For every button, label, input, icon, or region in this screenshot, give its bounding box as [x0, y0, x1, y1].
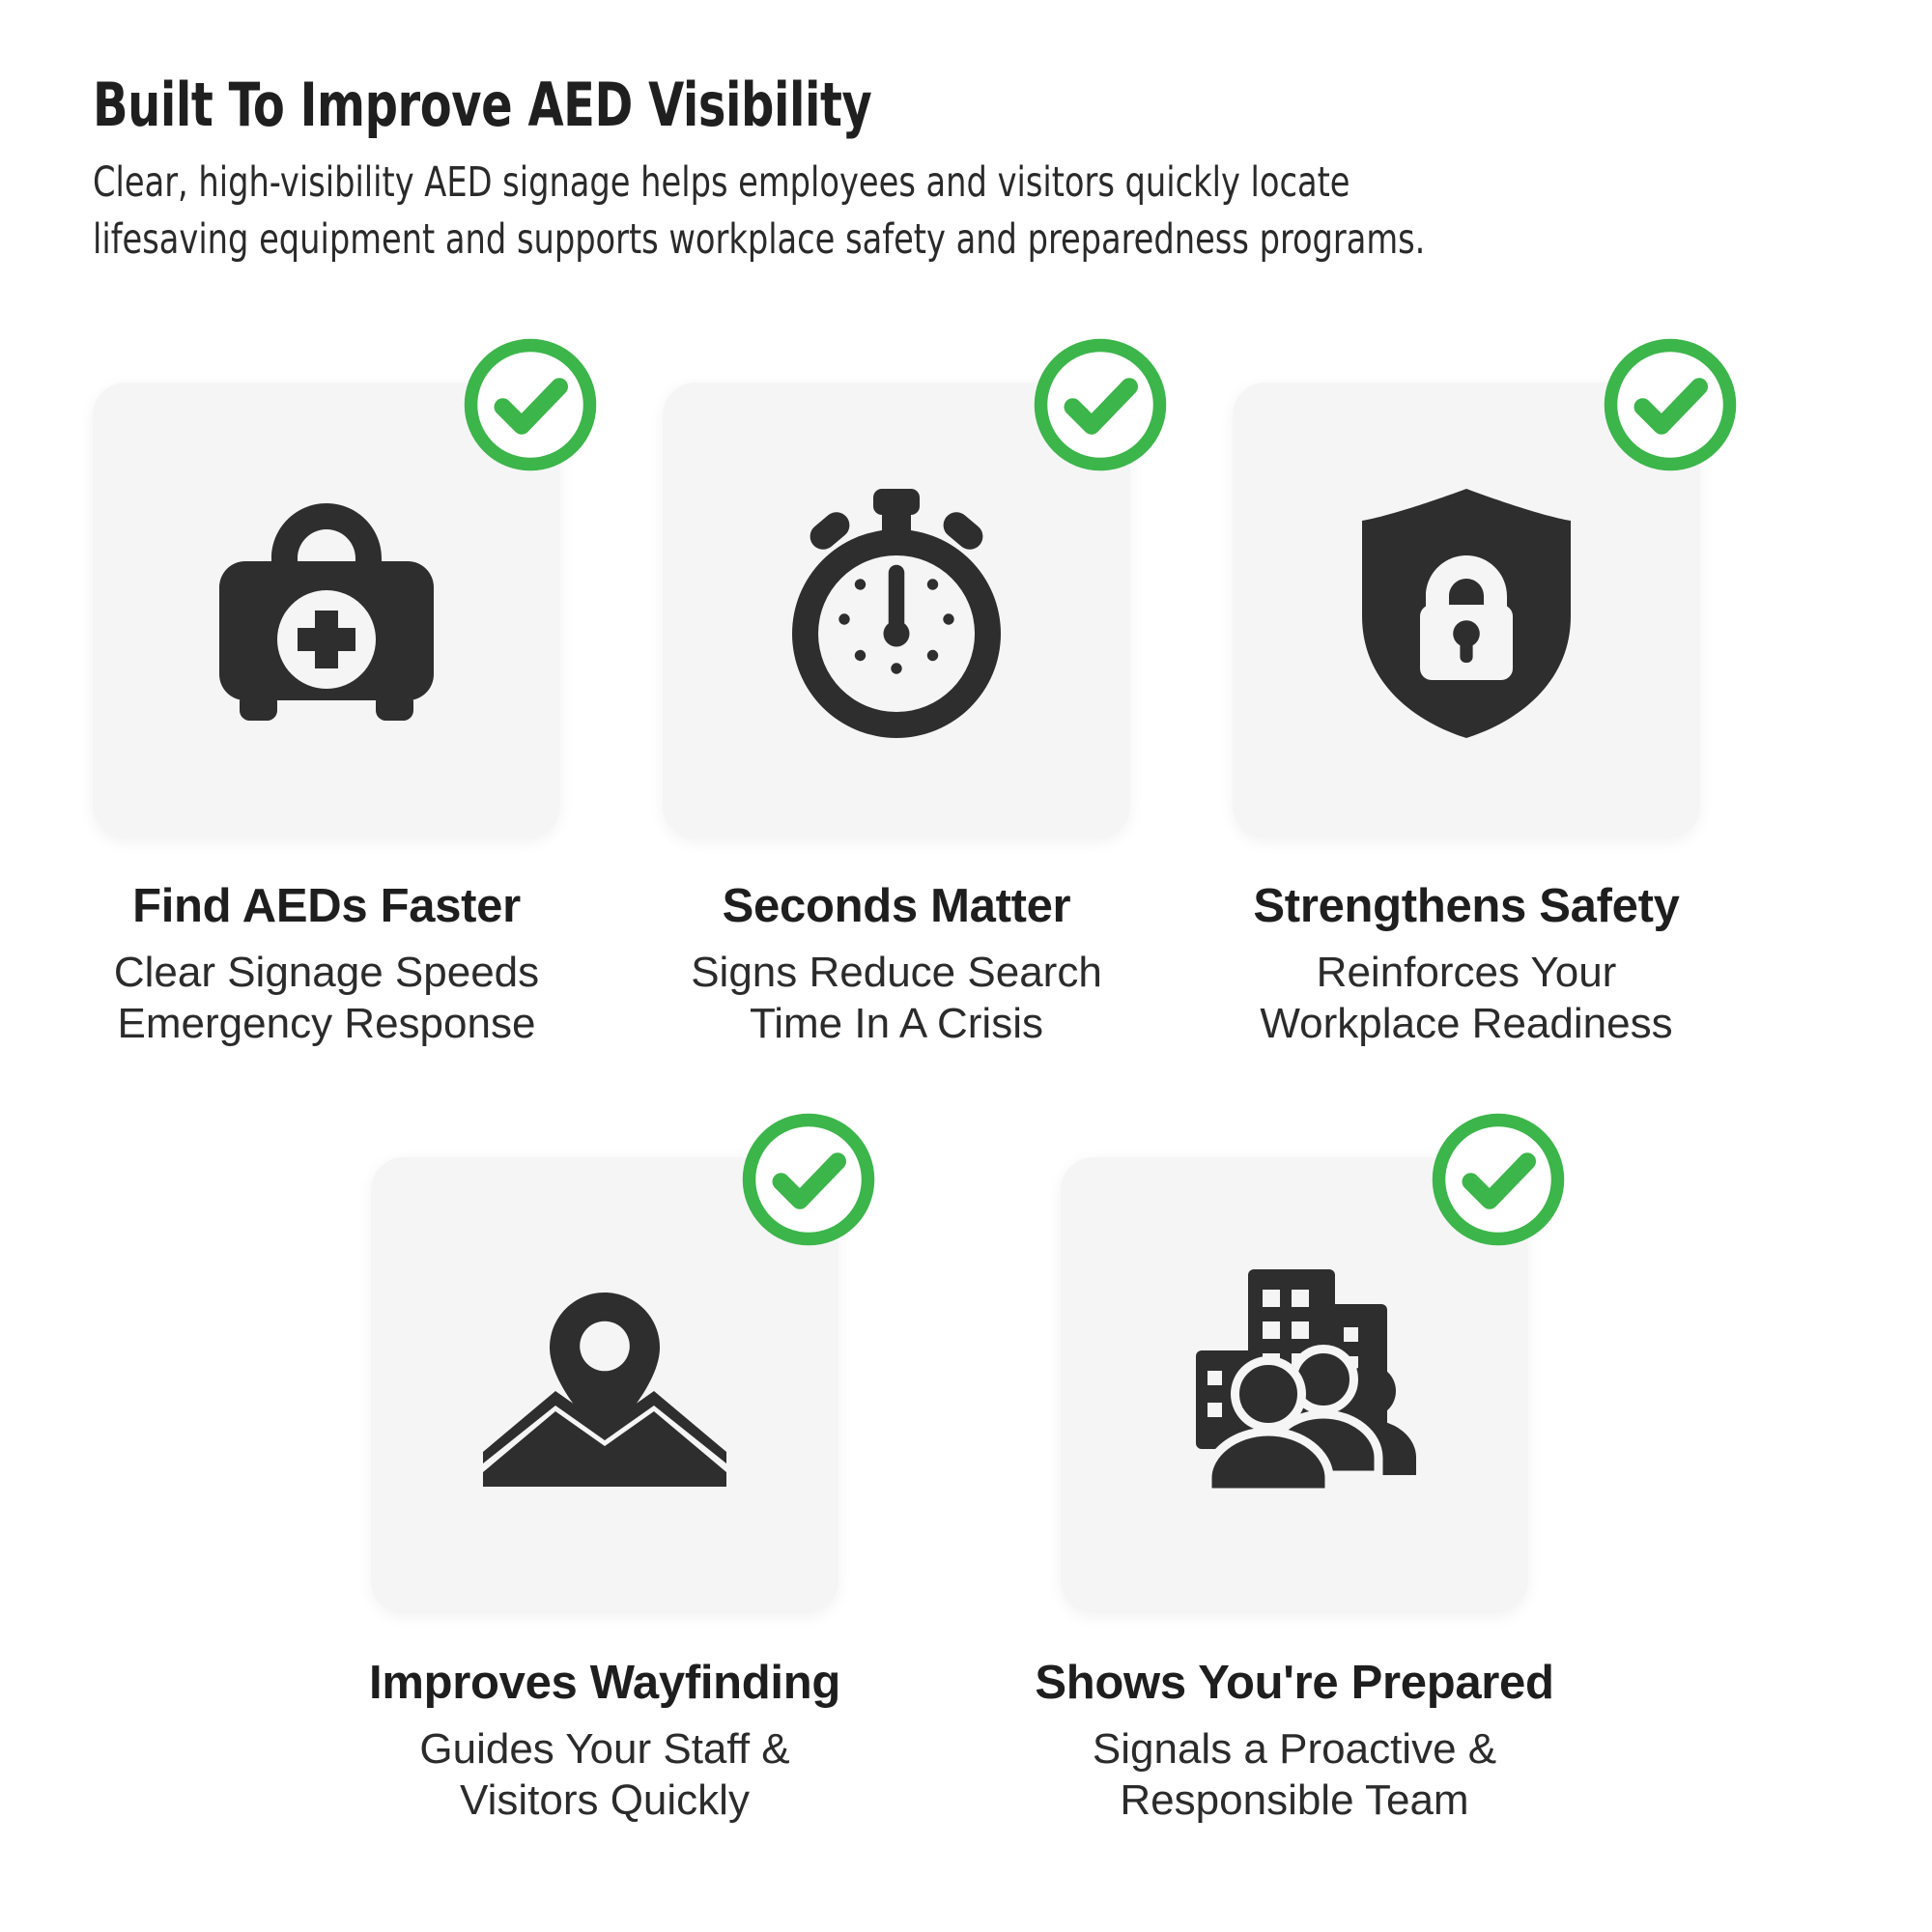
- card-desc-line: Reinforces Your: [1260, 947, 1672, 998]
- icon-tile-wrap: [1061, 1140, 1528, 1613]
- feature-card-improves-wayfinding[interactable]: Improves Wayfinding Guides Your Staff & …: [371, 1140, 838, 1826]
- card-title: Seconds Matter: [723, 879, 1071, 933]
- feature-card-find-aeds-faster[interactable]: Find AEDs Faster Clear Signage Speeds Em…: [93, 365, 560, 1049]
- feature-card-seconds-matter[interactable]: Seconds Matter Signs Reduce Search Time …: [663, 365, 1130, 1049]
- card-desc-line: Responsible Team: [1093, 1775, 1496, 1826]
- feature-row-top: Find AEDs Faster Clear Signage Speeds Em…: [93, 365, 1861, 1049]
- subtitle-line-2: lifesaving equipment and supports workpl…: [93, 212, 1816, 269]
- page-title: Built To Improve AED Visibility: [93, 71, 1630, 139]
- check-circle-icon: [1028, 332, 1173, 477]
- card-description: Reinforces Your Workplace Readiness: [1260, 947, 1672, 1049]
- card-description: Signs Reduce Search Time In A Crisis: [691, 947, 1102, 1049]
- feature-card-shows-youre-prepared[interactable]: Shows You're Prepared Signals a Proactiv…: [1061, 1140, 1528, 1826]
- building-people-icon: [1150, 1240, 1439, 1530]
- subtitle-line-1: Clear, high-visibility AED signage helps…: [93, 155, 1816, 212]
- card-desc-line: Time In A Crisis: [691, 998, 1102, 1049]
- check-circle-icon: [1426, 1107, 1571, 1252]
- card-desc-line: Visitors Quickly: [419, 1775, 789, 1826]
- feature-card-strengthens-safety[interactable]: Strengthens Safety Reinforces Your Workp…: [1233, 365, 1700, 1049]
- stopwatch-icon: [752, 466, 1041, 755]
- page-subtitle: Clear, high-visibility AED signage helps…: [93, 155, 1816, 269]
- check-circle-icon: [1598, 332, 1743, 477]
- card-desc-line: Signals a Proactive &: [1093, 1723, 1496, 1775]
- card-description: Guides Your Staff & Visitors Quickly: [419, 1723, 789, 1826]
- check-circle-icon: [458, 332, 603, 477]
- map-location-pin-icon: [460, 1240, 750, 1530]
- header: Built To Improve AED Visibility Clear, h…: [93, 71, 1880, 269]
- card-desc-line: Guides Your Staff &: [419, 1723, 789, 1775]
- card-title: Improves Wayfinding: [369, 1656, 840, 1710]
- icon-tile-wrap: [663, 365, 1130, 838]
- first-aid-kit-icon: [182, 466, 471, 755]
- icon-tile-wrap: [1233, 365, 1700, 838]
- card-desc-line: Clear Signage Speeds: [114, 947, 539, 998]
- card-title: Strengthens Safety: [1253, 879, 1679, 933]
- card-desc-line: Signs Reduce Search: [691, 947, 1102, 998]
- card-desc-line: Workplace Readiness: [1260, 998, 1672, 1049]
- feature-row-bottom: Improves Wayfinding Guides Your Staff & …: [371, 1140, 1578, 1826]
- check-circle-icon: [736, 1107, 881, 1252]
- card-description: Signals a Proactive & Responsible Team: [1093, 1723, 1496, 1826]
- card-desc-line: Emergency Response: [114, 998, 539, 1049]
- icon-tile-wrap: [93, 365, 560, 838]
- icon-tile-wrap: [371, 1140, 838, 1613]
- card-description: Clear Signage Speeds Emergency Response: [114, 947, 539, 1049]
- card-title: Shows You're Prepared: [1035, 1656, 1553, 1710]
- infographic-page: Built To Improve AED Visibility Clear, h…: [0, 0, 1932, 1932]
- card-title: Find AEDs Faster: [132, 879, 521, 933]
- shield-lock-icon: [1321, 466, 1611, 755]
